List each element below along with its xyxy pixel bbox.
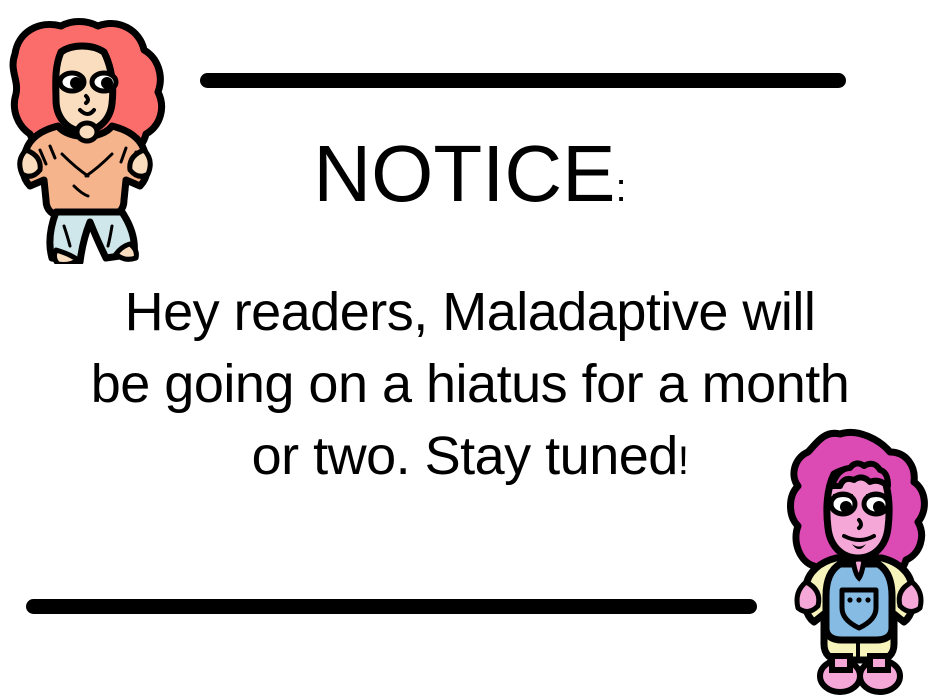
notice-poster: NOTICE: Hey readers, Maladaptive will be… (0, 0, 940, 699)
character-apron-pocket-dots (847, 597, 870, 602)
notice-body-exclamation: ! (678, 439, 689, 483)
page-title-colon: : (616, 166, 627, 210)
notice-body-line-1: Hey readers, Maladaptive will (0, 276, 940, 348)
top-divider-rule (200, 73, 846, 88)
notice-body-line-2: be going on a hiatus for a month (0, 348, 940, 420)
notice-body-line-3-text: or two. Stay tuned (252, 426, 678, 486)
bottom-divider-rule (26, 599, 757, 614)
magenta-haired-character-illustration (778, 424, 938, 696)
character-neck (77, 123, 97, 141)
page-title-text: NOTICE (313, 129, 615, 218)
character-collar (853, 559, 864, 578)
red-haired-character-illustration (6, 14, 176, 264)
